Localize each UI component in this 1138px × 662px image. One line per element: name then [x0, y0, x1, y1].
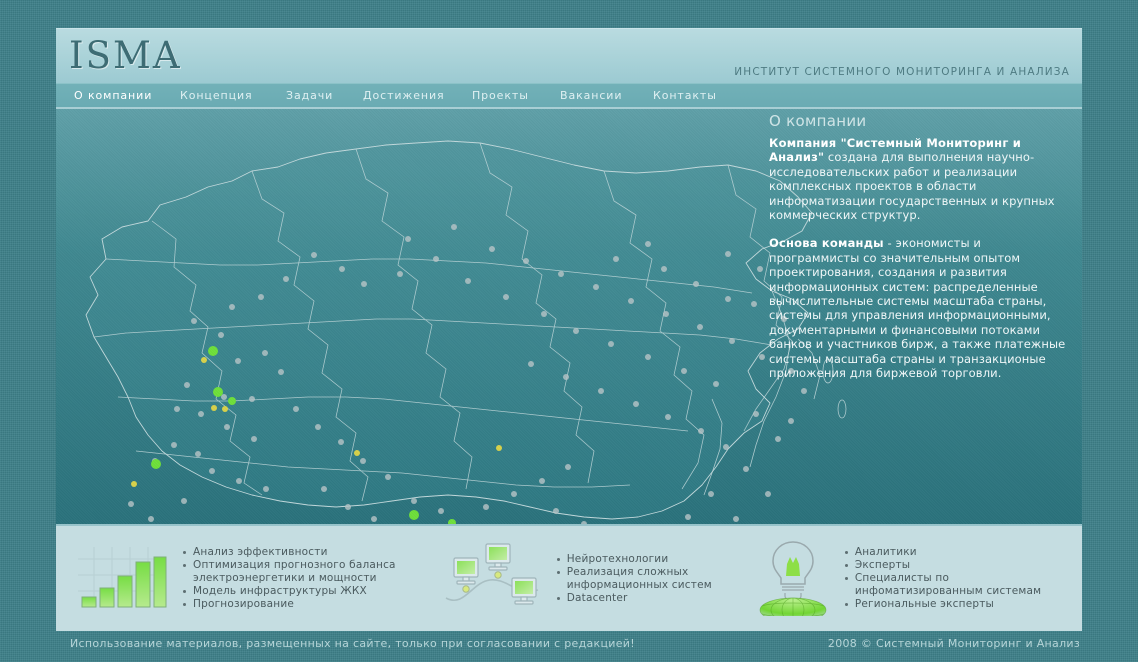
map-city-dot [775, 436, 781, 442]
map-city-dot [593, 284, 599, 290]
list-item: Нейротехнологии [556, 553, 712, 566]
nav-item-6[interactable]: Контакты [653, 84, 717, 107]
about-paragraph-2-bold: Основа команды [769, 236, 884, 250]
map-highlight-dot-yellow[interactable] [222, 406, 228, 412]
map-city-dot [541, 311, 547, 317]
map-city-dot [725, 251, 731, 257]
map-city-dot [411, 498, 417, 504]
map-city-dot [665, 414, 671, 420]
list-item: Региональные эксперты [844, 598, 1041, 611]
map-city-dot [697, 324, 703, 330]
nav-item-1[interactable]: Концепция [180, 84, 253, 107]
features-panel: Анализ эффективностиОптимизация прогнозн… [56, 524, 1082, 631]
site-shell: ISMA ИНСТИТУТ СИСТЕМНОГО МОНИТОРИНГА И А… [56, 28, 1082, 628]
list-item: Эксперты [844, 559, 1041, 572]
map-highlight-dot-yellow[interactable] [496, 445, 502, 451]
map-city-dot [757, 266, 763, 272]
list-item: инфоматизированным системам [844, 585, 1041, 598]
list-item: информационных систем [556, 579, 712, 592]
map-city-dot [148, 516, 154, 522]
map-city-dot [171, 442, 177, 448]
map-city-dot [598, 388, 604, 394]
map-city-dot [236, 478, 242, 484]
map-city-dot [608, 341, 614, 347]
map-city-dot [249, 396, 255, 402]
map-city-dot [753, 411, 759, 417]
map-city-dot [633, 401, 639, 407]
map-city-dot [725, 296, 731, 302]
map-city-dot [224, 424, 230, 430]
nav-item-3[interactable]: Достижения [363, 84, 445, 107]
map-highlight-dot-green[interactable] [151, 459, 161, 469]
map-city-dot [503, 294, 509, 300]
nav-item-2[interactable]: Задачи [286, 84, 333, 107]
map-city-dot [489, 246, 495, 252]
map-city-dot [315, 424, 321, 430]
about-paragraph-2-rest: - экономисты и программисты со значитель… [769, 236, 1065, 380]
site-logo[interactable]: ISMA [69, 35, 182, 77]
map-city-dot [713, 381, 719, 387]
about-paragraph-2: Основа команды - экономисты и программис… [769, 236, 1074, 380]
map-city-dot [663, 311, 669, 317]
list-item: Datacenter [556, 592, 712, 605]
map-city-dot [563, 374, 569, 380]
map-highlight-dot-yellow[interactable] [354, 450, 360, 456]
map-city-dot [345, 504, 351, 510]
map-city-dot [723, 444, 729, 450]
map-city-dot [283, 276, 289, 282]
map-city-dot [371, 516, 377, 522]
bar-chart-icon [76, 545, 168, 613]
map-city-dot [628, 298, 634, 304]
map-city-dot [321, 486, 327, 492]
map-city-dot [263, 486, 269, 492]
map-city-dot [565, 464, 571, 470]
map-city-dot [523, 258, 529, 264]
site-header: ISMA ИНСТИТУТ СИСТЕМНОГО МОНИТОРИНГА И А… [56, 28, 1082, 83]
feature-column-analysis: Анализ эффективностиОптимизация прогнозн… [76, 526, 396, 631]
about-panel: О компании Компания "Системный Мониторин… [769, 112, 1074, 395]
site-footer: Использование материалов, размещенных на… [56, 628, 1082, 662]
map-city-dot [405, 236, 411, 242]
map-city-dot [235, 358, 241, 364]
map-city-dot [262, 350, 268, 356]
map-highlight-dot-green[interactable] [208, 346, 218, 356]
map-city-dot [743, 466, 749, 472]
map-city-dot [573, 328, 579, 334]
footer-copyright-notice: Использование материалов, размещенных на… [70, 637, 635, 650]
map-city-dot [465, 278, 471, 284]
map-city-dot [433, 256, 439, 262]
map-city-dot [788, 418, 794, 424]
map-city-dot [191, 318, 197, 324]
about-paragraph-1: Компания "Системный Мониторинг и Анализ"… [769, 136, 1074, 222]
list-item: Прогнозирование [182, 598, 396, 611]
map-city-dot [759, 354, 765, 360]
main-navigation: О компанииКонцепцияЗадачиДостиженияПроек… [56, 83, 1082, 109]
map-city-dot [733, 516, 739, 522]
map-city-dot [693, 281, 699, 287]
map-city-dot [251, 436, 257, 442]
map-city-dot [198, 411, 204, 417]
map-city-dot [451, 224, 457, 230]
map-city-dot [174, 406, 180, 412]
map-city-dot [438, 508, 444, 514]
map-city-dot [311, 252, 317, 258]
list-item: Анализ эффективности [182, 546, 396, 559]
feature-column-technology: НейротехнологииРеализация сложныхинформа… [442, 526, 712, 631]
map-city-dot [708, 491, 714, 497]
map-highlight-dot-green[interactable] [213, 387, 223, 397]
map-city-dot [661, 266, 667, 272]
list-item: Оптимизация прогнозного баланса [182, 559, 396, 572]
map-city-dot [195, 451, 201, 457]
nav-item-0[interactable]: О компании [74, 84, 152, 107]
about-title: О компании [769, 112, 1074, 130]
map-city-dot [218, 332, 224, 338]
map-highlight-dot-yellow[interactable] [211, 405, 217, 411]
map-city-dot [681, 368, 687, 374]
map-highlight-dot-yellow[interactable] [201, 357, 207, 363]
map-city-dot [360, 458, 366, 464]
map-city-dot [645, 354, 651, 360]
map-city-dot [685, 514, 691, 520]
map-city-dot [293, 406, 299, 412]
map-city-dot [698, 428, 704, 434]
map-city-dot [209, 468, 215, 474]
lightbulb-globe-icon [756, 538, 830, 620]
map-city-dot [645, 241, 651, 247]
list-item: электроэнергетики и мощности [182, 572, 396, 585]
map-city-dot [751, 301, 757, 307]
list-item: Реализация сложных [556, 566, 712, 579]
map-highlight-dot-green[interactable] [228, 397, 236, 405]
map-city-dot [339, 266, 345, 272]
map-city-dot [184, 382, 190, 388]
map-city-dot [397, 271, 403, 277]
list-item: Специалисты по [844, 572, 1041, 585]
map-city-dot [338, 439, 344, 445]
map-city-dot [558, 271, 564, 277]
map-city-dot [278, 369, 284, 375]
list-item: Аналитики [844, 546, 1041, 559]
map-city-dot [181, 498, 187, 504]
map-city-dot [729, 338, 735, 344]
map-city-dot [553, 508, 559, 514]
map-city-dot [483, 504, 489, 510]
feature-list-people: АналитикиЭкспертыСпециалисты поинфоматиз… [844, 546, 1041, 611]
map-city-dot [229, 304, 235, 310]
map-city-dot [385, 474, 391, 480]
map-city-dot [613, 256, 619, 262]
map-city-dot [258, 294, 264, 300]
footer-copyright-owner: 2008 © Системный Мониторинг и Анализ [828, 637, 1080, 650]
feature-column-people: АналитикиЭкспертыСпециалисты поинфоматиз… [756, 526, 1041, 631]
map-city-dot [528, 361, 534, 367]
site-subtitle: ИНСТИТУТ СИСТЕМНОГО МОНИТОРИНГА И АНАЛИЗ… [734, 66, 1070, 78]
map-city-dot [361, 281, 367, 287]
feature-list-analysis: Анализ эффективностиОптимизация прогнозн… [182, 546, 396, 611]
list-item: Модель инфраструктуры ЖКХ [182, 585, 396, 598]
map-highlight-dot-green[interactable] [409, 510, 419, 520]
map-city-dot [128, 501, 134, 507]
nav-item-4[interactable]: Проекты [472, 84, 529, 107]
map-highlight-dot-yellow[interactable] [131, 481, 137, 487]
map-city-dot [511, 491, 517, 497]
map-city-dot [539, 478, 545, 484]
feature-list-technology: НейротехнологииРеализация сложныхинформа… [556, 553, 712, 605]
map-city-dot [765, 491, 771, 497]
network-computers-icon [442, 542, 542, 616]
content-area: О компании Компания "Системный Мониторин… [56, 109, 1082, 524]
nav-item-5[interactable]: Вакансии [560, 84, 622, 107]
